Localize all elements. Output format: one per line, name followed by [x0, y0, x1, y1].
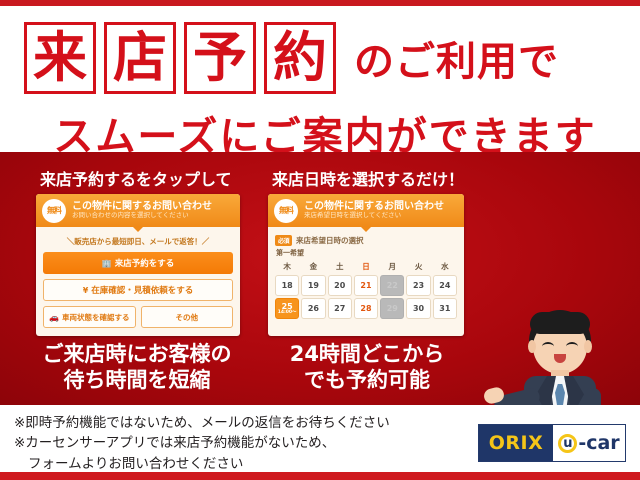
headline-char-1: 来: [24, 22, 96, 94]
vehicle-condition-label: 車両状態を確認する: [62, 312, 130, 323]
weekday-mon: 月: [380, 260, 404, 273]
pointer-triangle: [133, 227, 143, 232]
left-caption-line-2: 待ち時間を短縮: [22, 368, 252, 394]
date-cell[interactable]: 30: [406, 298, 430, 319]
calendar-card: 無料 この物件に関するお問い合わせ 来店希望日時を選択してください 必須 来店希…: [268, 194, 464, 336]
reserve-visit-button[interactable]: 🏢 来店予約をする: [43, 252, 233, 274]
headline-boxed-row: 来 店 予 約 のご利用で: [24, 22, 559, 94]
red-content-area: 来店予約するをタップして 来店日時を選択するだけ！ 無料 この物件に関するお問い…: [0, 152, 640, 405]
footer-note-1: ※即時予約機能ではないため、メールの返信をお待ちください: [14, 413, 464, 433]
weekday-thu: 木: [275, 260, 299, 273]
calendar-card-subtitle: 来店希望日時を選択してください: [304, 212, 444, 220]
date-number: 21: [360, 281, 371, 290]
left-caption-line-1: ご来店時にお客様の: [22, 342, 252, 368]
date-cell[interactable]: 20: [328, 275, 352, 296]
calendar-card-body: 必須 来店希望日時の選択 第一希望 木 金 土 日 月 火 水 18 19 20: [268, 227, 464, 325]
inquiry-card-body: ＼販売店から最短即日、メールで返答！／ 🏢 来店予約をする ¥ 在庫確認・見積依…: [36, 227, 240, 334]
date-cell[interactable]: 19: [301, 275, 325, 296]
date-number: 22: [387, 281, 398, 290]
ucar-wordmark: u -car: [553, 425, 625, 461]
right-caption-line-1: 24時間どこから: [262, 342, 472, 368]
other-button[interactable]: その他: [141, 306, 234, 328]
date-cell[interactable]: 18: [275, 275, 299, 296]
calendar-week-2: 25 14:00〜 26 27 28 29 30 31: [275, 298, 457, 319]
reserve-visit-label: 来店予約をする: [115, 257, 175, 269]
stock-quote-button[interactable]: ¥ 在庫確認・見積依頼をする: [43, 279, 233, 301]
footer-notes: ※即時予約機能ではないため、メールの返信をお待ちください ※カーセンサーアプリで…: [14, 413, 464, 474]
store-icon: 🏢: [102, 259, 112, 268]
car-text: -car: [578, 432, 619, 454]
date-cell[interactable]: 27: [328, 298, 352, 319]
orix-wordmark: ORIX: [479, 425, 553, 461]
date-number: 31: [439, 304, 450, 313]
date-cell[interactable]: 28: [354, 298, 378, 319]
calendar-card-header: 無料 この物件に関するお問い合わせ 来店希望日時を選択してください: [268, 194, 464, 227]
promo-text: ＼販売店から最短即日、メールで返答！／: [43, 236, 233, 247]
vehicle-condition-button[interactable]: 🚗 車両状態を確認する: [43, 306, 136, 328]
weekday-tue: 火: [406, 260, 430, 273]
date-number: 28: [360, 304, 371, 313]
yen-icon: ¥: [83, 286, 89, 295]
first-choice-label: 第一希望: [276, 248, 457, 258]
date-number: 23: [413, 281, 424, 290]
left-panel-heading: 来店予約するをタップして: [40, 166, 232, 190]
weekday-sat: 土: [328, 260, 352, 273]
right-caption: 24時間どこから でも予約可能: [262, 342, 472, 393]
weekday-header-row: 木 金 土 日 月 火 水: [275, 260, 457, 273]
headline-char-3: 予: [184, 22, 256, 94]
date-number: 24: [439, 281, 450, 290]
inquiry-card-subtitle: お問い合わせの内容を選択してください: [72, 212, 212, 220]
headline-tail: のご利用で: [354, 29, 559, 87]
right-panel-heading: 来店日時を選択するだけ！: [272, 166, 464, 190]
other-label: その他: [176, 312, 199, 323]
date-number: 26: [308, 304, 319, 313]
weekday-sun: 日: [354, 260, 378, 273]
footer-note-3: フォームよりお問い合わせください: [14, 454, 464, 474]
required-tag: 必須: [275, 235, 292, 246]
date-cell[interactable]: 23: [406, 275, 430, 296]
car-icon: 🚗: [49, 313, 59, 322]
date-number: 30: [413, 304, 424, 313]
stock-quote-label: 在庫確認・見積依頼をする: [91, 284, 193, 296]
date-number: 27: [334, 304, 345, 313]
u-circle-icon: u: [558, 434, 577, 453]
right-caption-line-2: でも予約可能: [262, 368, 472, 394]
date-number: 20: [334, 281, 345, 290]
left-caption: ご来店時にお客様の 待ち時間を短縮: [22, 342, 252, 393]
bottom-red-rule: [0, 472, 640, 480]
headline-char-2: 店: [104, 22, 176, 94]
banner-header: 来 店 予 約 のご利用で スムーズにご案内ができます: [0, 6, 640, 152]
calendar-week-1: 18 19 20 21 22 23 24: [275, 275, 457, 296]
date-number: 18: [282, 281, 293, 290]
orix-ucar-logo: ORIX u -car: [478, 424, 626, 462]
calendar-label: 来店希望日時の選択: [296, 235, 364, 246]
date-cell[interactable]: 31: [433, 298, 457, 319]
date-number: 19: [308, 281, 319, 290]
date-cell[interactable]: 21: [354, 275, 378, 296]
pointer-triangle: [361, 227, 371, 232]
date-time-sub: 14:00〜: [278, 311, 297, 316]
headline-char-4: 約: [264, 22, 336, 94]
date-cell[interactable]: 26: [301, 298, 325, 319]
footer-note-2: ※カーセンサーアプリでは来店予約機能がないため、: [14, 433, 464, 453]
weekday-fri: 金: [301, 260, 325, 273]
date-cell-selected[interactable]: 25 14:00〜: [275, 298, 299, 319]
free-badge: 無料: [274, 199, 298, 223]
weekday-wed: 水: [433, 260, 457, 273]
date-cell-disabled: 22: [380, 275, 404, 296]
calendar-label-row: 必須 来店希望日時の選択: [275, 235, 457, 246]
ad-banner: 来 店 予 約 のご利用で スムーズにご案内ができます 来店予約するをタップして…: [0, 0, 640, 480]
date-number: 29: [387, 304, 398, 313]
inquiry-form-card: 無料 この物件に関するお問い合わせ お問い合わせの内容を選択してください ＼販売…: [36, 194, 240, 336]
inquiry-card-header: 無料 この物件に関するお問い合わせ お問い合わせの内容を選択してください: [36, 194, 240, 227]
date-cell-disabled: 29: [380, 298, 404, 319]
date-cell[interactable]: 24: [433, 275, 457, 296]
free-badge: 無料: [42, 199, 66, 223]
secondary-button-row: 🚗 車両状態を確認する その他: [43, 306, 233, 328]
